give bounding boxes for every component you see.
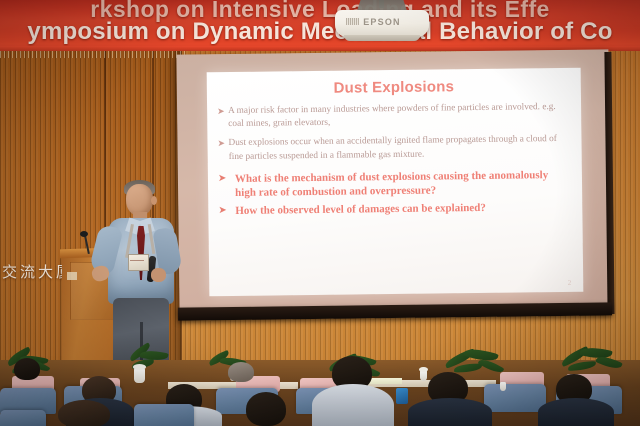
slide-bullet-text: A major risk factor in many industries w… bbox=[228, 101, 567, 132]
slide-bullet-item-highlight: ➤ What is the mechanism of dust explosio… bbox=[218, 168, 568, 201]
projector-foot bbox=[344, 35, 420, 41]
slide-bullet-text: Dust explosions occur when an accidental… bbox=[228, 133, 567, 164]
audience-member-head bbox=[246, 392, 286, 426]
audience-chair bbox=[484, 384, 546, 412]
speaker-name-badge bbox=[128, 254, 149, 271]
banner-line-2: ymposium on Dynamic Mechanical Behavior … bbox=[0, 18, 640, 46]
speaker-ear bbox=[151, 196, 157, 205]
smartphone bbox=[396, 388, 408, 404]
audience-member-shoulders bbox=[312, 384, 394, 426]
conference-banner: rkshop on Intensive Loading and its Effe… bbox=[0, 0, 640, 50]
slide-page-number: 2 bbox=[568, 279, 572, 287]
audience-member-head bbox=[58, 400, 110, 426]
ceiling-projector: EPSON bbox=[330, 0, 434, 50]
slide-bullet-text: What is the mechanism of dust explosions… bbox=[229, 168, 568, 201]
podium-microphone-head-icon bbox=[80, 231, 88, 237]
tea-cup bbox=[134, 368, 145, 383]
presentation-slide: Dust Explosions ➤ A major risk factor in… bbox=[207, 68, 584, 297]
ceiling-light-strip bbox=[0, 51, 185, 58]
slide-bullet-item-highlight: ➤ How the observed level of damages can … bbox=[218, 200, 568, 219]
podium-emblem bbox=[67, 272, 77, 280]
slide-bullet-item: ➤ A major risk factor in many industries… bbox=[217, 101, 567, 132]
bullet-marker-icon: ➤ bbox=[218, 204, 229, 218]
audience-member-head bbox=[228, 362, 254, 382]
slide-bullet-item: ➤ Dust explosions occur when an accident… bbox=[217, 133, 567, 164]
audience-member-shoulders bbox=[538, 398, 614, 426]
bullet-marker-icon: ➤ bbox=[217, 137, 228, 149]
projector-brand-label: EPSON bbox=[335, 17, 429, 27]
audience-chair bbox=[0, 410, 46, 426]
bullet-marker-icon: ➤ bbox=[217, 105, 228, 117]
audience-member-shoulders bbox=[408, 398, 492, 426]
tea-cup-lid bbox=[133, 364, 146, 370]
tea-cup-lid bbox=[419, 367, 428, 372]
bullet-marker-icon: ➤ bbox=[218, 172, 229, 186]
tea-cup bbox=[500, 382, 506, 391]
audience-chair bbox=[134, 404, 194, 426]
slide-bullet-list: ➤ A major risk factor in many industries… bbox=[207, 101, 582, 219]
slide-title: Dust Explosions bbox=[207, 77, 581, 99]
conference-presentation-photo: 交流大厦 rkshop on Intensive Loading and its… bbox=[0, 0, 640, 426]
speaker-hand-right bbox=[151, 268, 166, 282]
speaker-name-badge-text-line bbox=[130, 260, 144, 261]
audience-member-head bbox=[14, 358, 40, 380]
slide-bullet-text: How the observed level of damages can be… bbox=[229, 201, 486, 219]
